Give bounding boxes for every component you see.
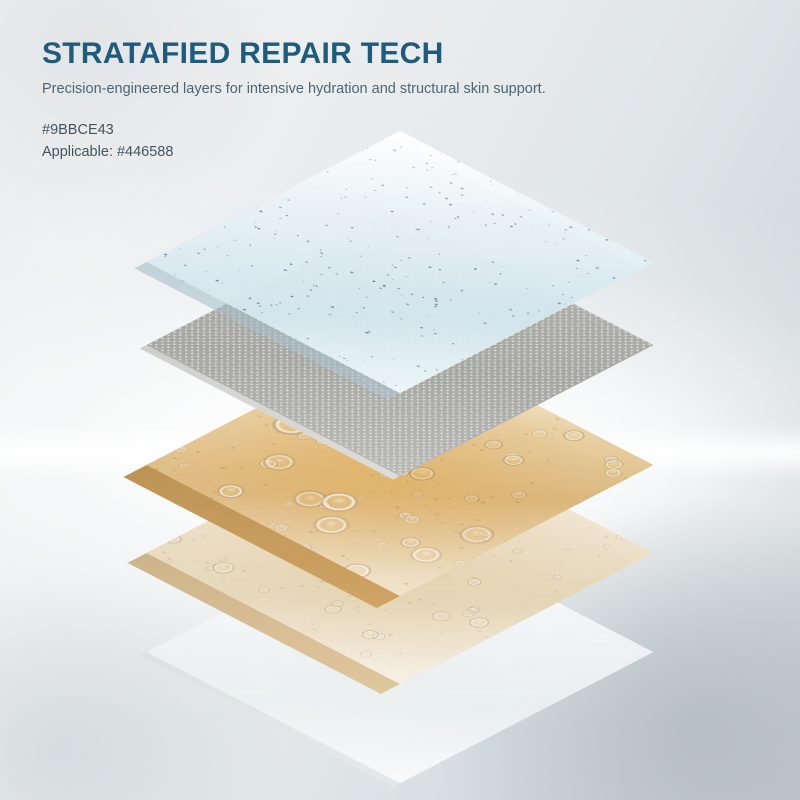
code-primary: #9BBCE43: [42, 119, 772, 141]
product-illustration-canvas: STRATAFIED REPAIR TECH Precision-enginee…: [0, 0, 800, 800]
layer-plate: [147, 131, 654, 393]
header-text-block: STRATAFIED REPAIR TECH Precision-enginee…: [42, 38, 772, 163]
page-title: STRATAFIED REPAIR TECH: [42, 38, 772, 70]
layer-sheen-overlay: [147, 131, 654, 393]
page-subtitle: Precision-engineered layers for intensiv…: [42, 80, 772, 98]
code-list: #9BBCE43 Applicable: #446588: [42, 119, 772, 164]
code-applicable: Applicable: #446588: [42, 141, 772, 163]
